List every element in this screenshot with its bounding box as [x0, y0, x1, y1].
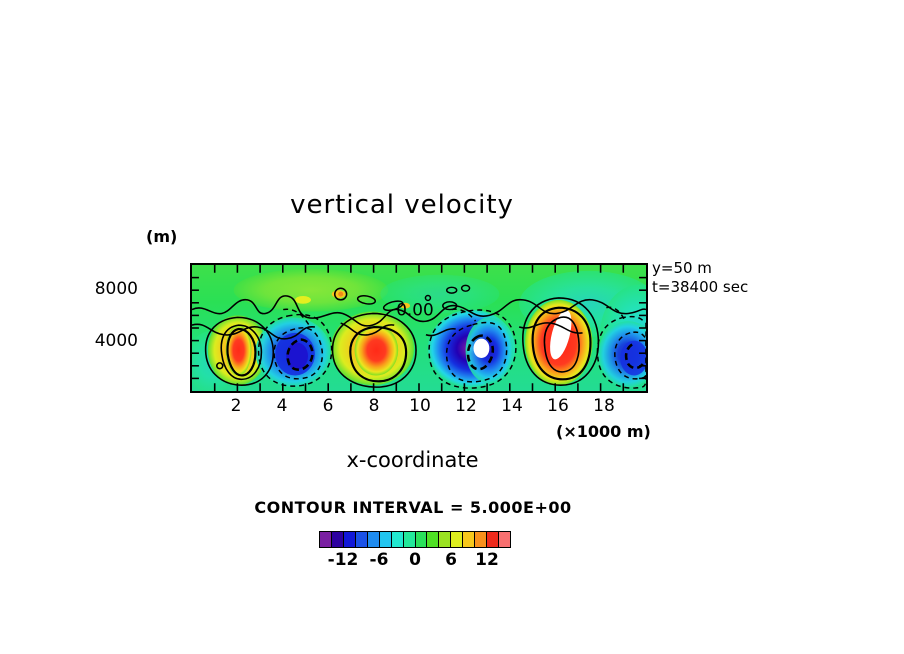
contour-interval-caption: CONTOUR INTERVAL = 5.000E+00 [0, 498, 904, 517]
plot-annotation: y=50 m t=38400 sec [652, 259, 748, 297]
x-tick-label-14: 14 [497, 396, 527, 416]
plot-title-text: vertical velocity [290, 190, 514, 220]
colorbar-swatch-11 [451, 532, 463, 547]
colorbar-tick--6: -6 [359, 550, 399, 570]
contour-plot-area: 0.00 [190, 263, 648, 393]
contour-interval-text: CONTOUR INTERVAL = 5.000E+00 [254, 498, 571, 517]
colorbar-tick-12: 12 [467, 550, 507, 570]
colorbar-swatch-6 [392, 532, 404, 547]
colorbar-swatch-5 [380, 532, 392, 547]
colorbar-swatch-8 [416, 532, 428, 547]
y-axis-unit-label: (m) [146, 227, 177, 246]
x-tick-label-18: 18 [589, 396, 619, 416]
page-title: vertical velocity [0, 190, 904, 220]
annotation-time-value: t=38400 sec [652, 278, 748, 297]
zero-contour-label: 0.00 [390, 300, 436, 319]
colorbar: -12-60612 [319, 531, 511, 572]
x-tick-label-6: 6 [313, 396, 343, 416]
colorbar-swatch-12 [463, 532, 475, 547]
colorbar-tick--12: -12 [323, 550, 363, 570]
colorbar-swatch-0 [320, 532, 332, 547]
svg-text:0.00: 0.00 [396, 301, 434, 320]
colorbar-swatch-2 [344, 532, 356, 547]
y-tick-label-8000: 8000 [78, 279, 138, 299]
colorbar-swatch-1 [332, 532, 344, 547]
x-tick-label-4: 4 [267, 396, 297, 416]
x-tick-label-2: 2 [221, 396, 251, 416]
y-tick-label-4000: 4000 [78, 331, 138, 351]
vertical-velocity-field: 0.00 [192, 265, 646, 391]
colorbar-swatch-14 [487, 532, 499, 547]
colorbar-swatches [319, 531, 511, 548]
x-axis-unit-label: (×1000 m) [556, 422, 651, 441]
colorbar-swatch-15 [499, 532, 510, 547]
colorbar-swatch-10 [439, 532, 451, 547]
x-tick-label-8: 8 [359, 396, 389, 416]
x-tick-label-10: 10 [405, 396, 435, 416]
colorbar-tick-6: 6 [431, 550, 471, 570]
colorbar-swatch-4 [368, 532, 380, 547]
x-tick-label-16: 16 [543, 396, 573, 416]
colorbar-tick-0: 0 [395, 550, 435, 570]
colorbar-swatch-9 [427, 532, 439, 547]
figure-canvas: vertical velocity (m) 8000 4000 [0, 0, 904, 654]
x-axis-label-text: x-coordinate [346, 448, 478, 472]
annotation-y-value: y=50 m [652, 259, 748, 278]
colorbar-swatch-3 [356, 532, 368, 547]
x-tick-label-12: 12 [451, 396, 481, 416]
colorbar-tick-labels: -12-60612 [319, 550, 511, 572]
colorbar-swatch-7 [404, 532, 416, 547]
x-axis-label: x-coordinate [0, 448, 904, 472]
colorbar-swatch-13 [475, 532, 487, 547]
